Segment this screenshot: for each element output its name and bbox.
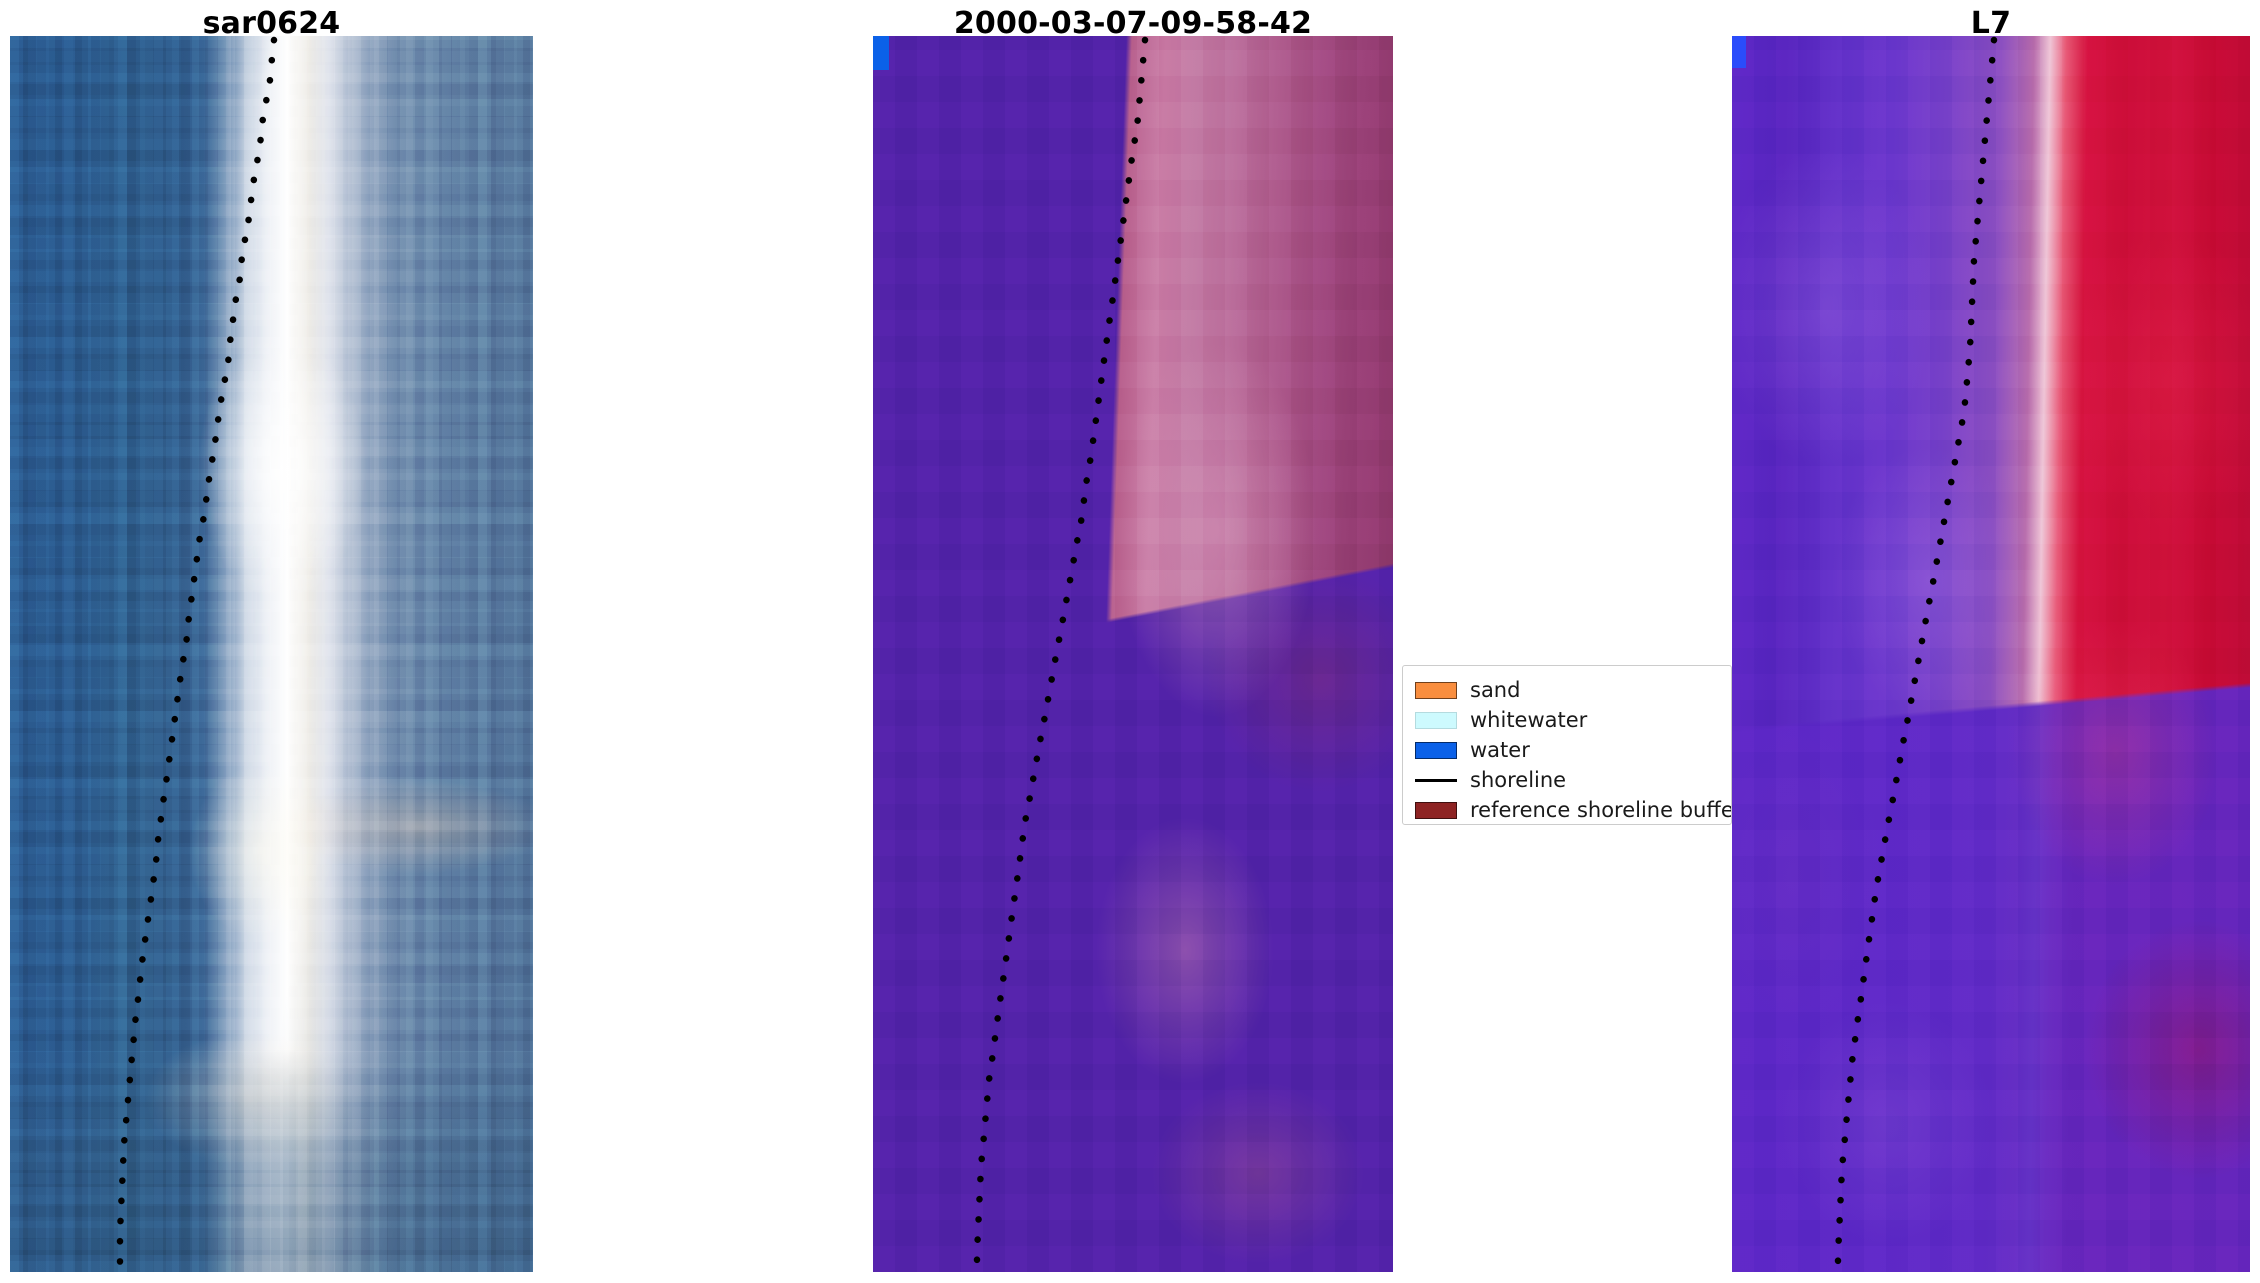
legend-swatch-wrap-whitewater xyxy=(1414,705,1458,735)
shoreline-overlay-sar xyxy=(10,36,533,1272)
legend-label-sand: sand xyxy=(1470,680,1520,701)
shoreline-overlay-l7 xyxy=(1732,36,2250,1272)
shoreline-polyline xyxy=(1838,40,1994,1270)
legend-item-water[interactable]: water xyxy=(1414,735,1721,765)
legend-swatch-wrap-sand xyxy=(1414,675,1458,705)
shoreline-overlay-classified xyxy=(873,36,1393,1272)
legend-item-sand[interactable]: sand xyxy=(1414,675,1721,705)
legend-item-shoreline[interactable]: shoreline xyxy=(1414,765,1721,795)
reference-shoreline-buffer-swatch-icon xyxy=(1415,802,1457,819)
shoreline-polyline xyxy=(120,40,274,1270)
legend-label-whitewater: whitewater xyxy=(1470,710,1587,731)
figure-canvas: sar0624 2000-03-07-09-58-42 L7 xyxy=(0,0,2260,1283)
sand-swatch-icon xyxy=(1415,682,1457,699)
image-panel-classified[interactable] xyxy=(873,36,1393,1272)
legend-swatch-wrap-reference-buffer xyxy=(1414,795,1458,825)
legend-label-shoreline: shoreline xyxy=(1470,770,1566,791)
legend-swatch-wrap-shoreline xyxy=(1414,765,1458,795)
legend-swatch-wrap-water xyxy=(1414,735,1458,765)
water-swatch-icon xyxy=(1415,742,1457,759)
legend-label-water: water xyxy=(1470,740,1530,761)
image-panel-l7[interactable] xyxy=(1732,36,2250,1272)
legend-label-reference-shoreline-buffer: reference shoreline buffer xyxy=(1470,800,1732,821)
legend-item-whitewater[interactable]: whitewater xyxy=(1414,705,1721,735)
shoreline-line-icon xyxy=(1415,779,1457,782)
image-panel-sar[interactable] xyxy=(10,36,533,1272)
legend-box[interactable]: sand whitewater water shoreline referenc xyxy=(1402,665,1732,825)
whitewater-swatch-icon xyxy=(1415,712,1457,729)
shoreline-polyline xyxy=(977,40,1145,1270)
legend-item-reference-shoreline-buffer[interactable]: reference shoreline buffer xyxy=(1414,795,1721,825)
